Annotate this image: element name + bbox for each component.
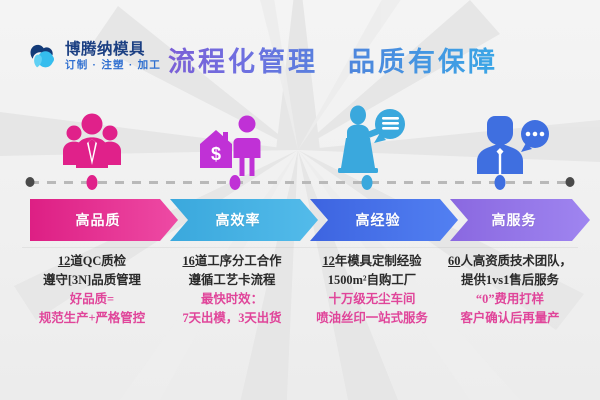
detail-line-rest: 人高资质技术团队， (460, 254, 572, 268)
timeline-dot-quality[interactable] (87, 175, 98, 190)
detail-column-experience: 12年模具定制经验 1500m²自购工厂 十万级无尘车间 喷油丝印一站式服务 (298, 252, 446, 328)
icon-cell-service (442, 100, 582, 178)
detail-line: 喷油丝印一站式服务 (298, 309, 446, 328)
cloud-droplet-logo-icon (24, 38, 60, 74)
chevron-quality[interactable]: 高品质 (30, 199, 178, 241)
header: 博腾纳模具 订制 · 注塑 · 加工 流程化管理 品质有保障 (0, 0, 600, 95)
chevron-label-quality: 高品质 (76, 210, 121, 230)
detail-line: 16道工序分工合作 (158, 252, 306, 271)
chevron-bar: 高品质 高效率 高经验 (0, 199, 600, 241)
team-group-icon (57, 106, 127, 178)
detail-line: 7天出模，3天出货 (158, 309, 306, 328)
detail-line: 1500m²自购工厂 (298, 271, 446, 290)
chevron-efficiency[interactable]: 高效率 (170, 199, 318, 241)
support-agent-chat-icon (473, 112, 551, 178)
house-dollar-person-icon: $ (192, 108, 272, 178)
logo-company-name: 博腾纳模具 (65, 42, 161, 58)
detail-line: 十万级无尘车间 (298, 290, 446, 309)
detail-line-rest: 年模具定制经验 (335, 254, 422, 268)
detail-line: 规范生产+严格管控 (18, 309, 166, 328)
detail-line: 最快时效： (158, 290, 306, 309)
speaker-podium-icon (334, 102, 410, 178)
icon-cell-quality (22, 100, 162, 178)
timeline-dot-experience[interactable] (362, 175, 373, 190)
chevron-label-experience: 高经验 (356, 210, 401, 230)
detail-column-efficiency: 16道工序分工合作 遵循工艺卡流程 最快时效： 7天出模，3天出货 (158, 252, 306, 328)
timeline (0, 172, 600, 192)
detail-line: 遵守[3N]品质管理 (18, 271, 166, 290)
detail-line: 遵循工艺卡流程 (158, 271, 306, 290)
icon-cell-experience (302, 100, 442, 178)
timeline-end-cap (566, 177, 575, 187)
detail-line: 好品质= (18, 290, 166, 309)
chevron-label-efficiency: 高效率 (216, 210, 261, 230)
content-divider (22, 247, 578, 248)
detail-line: “0”费用打样 (436, 290, 584, 309)
detail-line-rest: 道QC质检 (70, 254, 126, 268)
page-title: 流程化管理 品质有保障 (168, 40, 498, 79)
timeline-dashed-line (30, 181, 570, 184)
chevron-service[interactable]: 高服务 (450, 199, 590, 241)
icon-cell-efficiency: $ (162, 100, 302, 178)
svg-text:$: $ (211, 144, 221, 164)
detail-columns: 12道QC质检 遵守[3N]品质管理 好品质= 规范生产+严格管控 16道工序分… (0, 252, 600, 362)
detail-line: 12年模具定制经验 (298, 252, 446, 271)
timeline-start-cap (26, 177, 35, 187)
chevron-experience[interactable]: 高经验 (310, 199, 458, 241)
timeline-dot-service[interactable] (495, 175, 506, 190)
detail-line: 60人高资质技术团队， (436, 252, 584, 271)
detail-line-rest: 道工序分工合作 (195, 254, 282, 268)
icons-row: $ (0, 100, 600, 180)
logo-tagline: 订制 · 注塑 · 加工 (65, 60, 161, 71)
detail-column-service: 60人高资质技术团队， 提供1vs1售后服务 “0”费用打样 客户确认后再量产 (436, 252, 584, 328)
detail-line: 12道QC质检 (18, 252, 166, 271)
brand-logo[interactable]: 博腾纳模具 订制 · 注塑 · 加工 (24, 38, 161, 74)
detail-column-quality: 12道QC质检 遵守[3N]品质管理 好品质= 规范生产+严格管控 (18, 252, 166, 328)
chevron-label-service: 高服务 (492, 210, 537, 230)
timeline-dot-efficiency[interactable] (230, 175, 241, 190)
infographic-canvas: 博腾纳模具 订制 · 注塑 · 加工 流程化管理 品质有保障 (0, 0, 600, 400)
detail-line: 提供1vs1售后服务 (436, 271, 584, 290)
detail-line: 客户确认后再量产 (436, 309, 584, 328)
